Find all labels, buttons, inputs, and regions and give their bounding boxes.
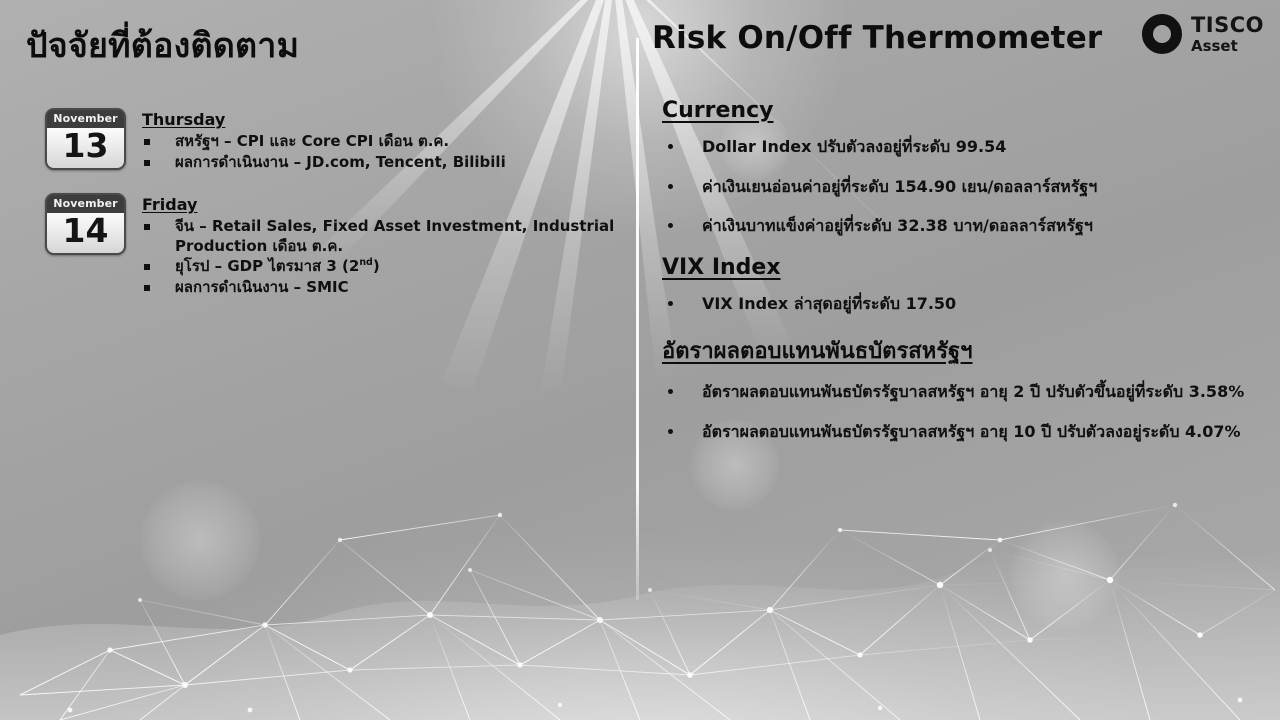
calendar-date: 13 — [47, 128, 124, 168]
event-list-friday: จีน – Retail Sales, Fixed Asset Investme… — [142, 217, 615, 297]
list-item: Dollar Index ปรับตัวลงอยู่ที่ระดับ 99.54 — [662, 136, 1262, 159]
right-panel-content: Currency Dollar Index ปรับตัวลงอยู่ที่ระ… — [662, 98, 1262, 460]
list-item-text: อัตราผลตอบแทนพันธบัตรรัฐบาลสหรัฐฯ อายุ 1… — [702, 422, 1241, 441]
bokeh-decoration — [1010, 520, 1120, 630]
list-item: ค่าเงินบาทแข็งค่าอยู่ที่ระดับ 32.38 บาท/… — [662, 215, 1262, 238]
list-item-text: Dollar Index ปรับตัวลงอยู่ที่ระดับ 99.54 — [702, 137, 1006, 156]
section-heading-vix: VIX Index — [662, 255, 1262, 280]
calendar-icon-nov-13: November 13 — [45, 108, 126, 170]
list-item-text-superscript: nd — [359, 257, 372, 268]
square-bullet-icon — [144, 224, 150, 230]
left-panel-title: ปัจจัยที่ต้องติดตาม — [26, 18, 299, 72]
day-block-friday: November 14 Friday จีน – Retail Sales, F… — [45, 193, 615, 298]
day-content-friday: Friday จีน – Retail Sales, Fixed Asset I… — [142, 193, 615, 298]
section-heading-currency: Currency — [662, 98, 1262, 123]
list-item-text: VIX Index ล่าสุดอยู่ที่ระดับ 17.50 — [702, 294, 956, 313]
list-item: จีน – Retail Sales, Fixed Asset Investme… — [142, 217, 615, 256]
round-bullet-icon — [668, 301, 673, 306]
panel-divider — [636, 38, 639, 600]
round-bullet-icon — [668, 184, 673, 189]
square-bullet-icon — [144, 160, 150, 166]
list-item-text-prefix: ยุโรป – GDP ไตรมาส 3 (2 — [175, 257, 359, 275]
list-item: อัตราผลตอบแทนพันธบัตรรัฐบาลสหรัฐฯ อายุ 1… — [662, 421, 1262, 444]
logo-subtitle: Asset — [1191, 39, 1264, 54]
round-bullet-icon — [668, 389, 673, 394]
list-item-text: ผลการดำเนินงาน – SMIC — [175, 278, 349, 296]
list-item: ยุโรป – GDP ไตรมาส 3 (2nd) — [142, 257, 615, 277]
slide-canvas: TISCO Asset ปัจจัยที่ต้องติดตาม Risk On/… — [0, 0, 1280, 720]
list-item-text-suffix: ) — [373, 257, 380, 275]
logo-name: TISCO — [1191, 15, 1264, 36]
list-item-text: อัตราผลตอบแทนพันธบัตรรัฐบาลสหรัฐฯ อายุ 2… — [702, 382, 1244, 401]
calendar-icon-nov-14: November 14 — [45, 193, 126, 255]
list-item-text: จีน – Retail Sales, Fixed Asset Investme… — [175, 217, 614, 255]
left-panel-content: November 13 Thursday สหรัฐฯ – CPI และ Co… — [45, 108, 615, 318]
list-item: อัตราผลตอบแทนพันธบัตรรัฐบาลสหรัฐฯ อายุ 2… — [662, 381, 1262, 404]
bokeh-decoration — [140, 480, 260, 600]
list-item: ผลการดำเนินงาน – JD.com, Tencent, Bilibi… — [142, 153, 506, 173]
list-item: ผลการดำเนินงาน – SMIC — [142, 278, 615, 298]
list-item-text: สหรัฐฯ – CPI และ Core CPI เดือน ต.ค. — [175, 132, 449, 150]
square-bullet-icon — [144, 285, 150, 291]
logo-wordmark: TISCO Asset — [1191, 15, 1264, 54]
list-item-text: ค่าเงินบาทแข็งค่าอยู่ที่ระดับ 32.38 บาท/… — [702, 216, 1093, 235]
round-bullet-icon — [668, 223, 673, 228]
round-bullet-icon — [668, 144, 673, 149]
list-item-text: ค่าเงินเยนอ่อนค่าอยู่ที่ระดับ 154.90 เยน… — [702, 177, 1097, 196]
event-list-thursday: สหรัฐฯ – CPI และ Core CPI เดือน ต.ค. ผลก… — [142, 132, 506, 172]
weekday-label-friday: Friday — [142, 195, 615, 214]
weekday-label-thursday: Thursday — [142, 110, 506, 129]
day-content-thursday: Thursday สหรัฐฯ – CPI และ Core CPI เดือน… — [142, 108, 506, 173]
section-heading-bond-yield: อัตราผลตอบแทนพันธบัตรสหรัฐฯ — [662, 333, 1262, 368]
tisco-ring-logo-icon — [1142, 14, 1182, 54]
round-bullet-icon — [668, 429, 673, 434]
list-item: สหรัฐฯ – CPI และ Core CPI เดือน ต.ค. — [142, 132, 506, 152]
brand-logo: TISCO Asset — [1142, 14, 1264, 54]
network-plexus-decoration — [0, 420, 1280, 720]
right-panel-title: Risk On/Off Thermometer — [652, 20, 1102, 56]
square-bullet-icon — [144, 139, 150, 145]
day-block-thursday: November 13 Thursday สหรัฐฯ – CPI และ Co… — [45, 108, 615, 173]
list-item: VIX Index ล่าสุดอยู่ที่ระดับ 17.50 — [662, 293, 1262, 316]
calendar-date: 14 — [47, 213, 124, 253]
list-item: ค่าเงินเยนอ่อนค่าอยู่ที่ระดับ 154.90 เยน… — [662, 176, 1262, 199]
square-bullet-icon — [144, 264, 150, 270]
list-item-text: ผลการดำเนินงาน – JD.com, Tencent, Bilibi… — [175, 153, 506, 171]
